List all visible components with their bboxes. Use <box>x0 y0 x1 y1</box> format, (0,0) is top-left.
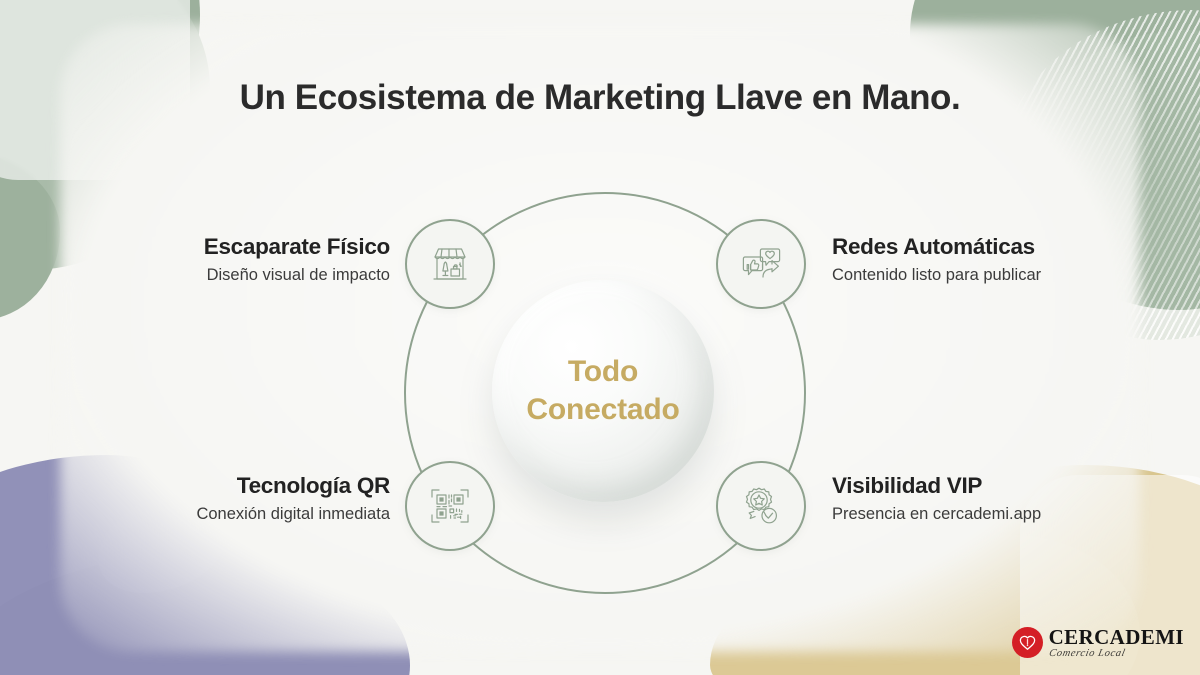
center-label-line1: Todo <box>568 353 638 391</box>
infographic-slide: Un Ecosistema de Marketing Llave en Mano… <box>0 0 1200 675</box>
qr-code-icon <box>426 482 474 530</box>
label-storefront-title: Escaparate Físico <box>50 234 390 261</box>
verified-badge-icon <box>737 482 785 530</box>
node-verified[interactable] <box>716 461 806 551</box>
label-social-subtitle: Contenido listo para publicar <box>832 266 1172 286</box>
logo-tagline: Comercio Local <box>1047 649 1185 660</box>
label-social-title: Redes Automáticas <box>832 234 1172 261</box>
label-qr-subtitle: Conexión digital inmediata <box>50 505 390 525</box>
label-qr: Tecnología QR Conexión digital inmediata <box>50 473 390 524</box>
heart-pin-icon <box>1012 627 1043 658</box>
center-label-line2: Conectado <box>526 391 679 429</box>
label-verified-subtitle: Presencia en cercademi.app <box>832 505 1172 525</box>
brand-logo[interactable]: CERCADEMI Comercio Local <box>1012 627 1184 660</box>
center-label: Todo Conectado <box>492 280 714 502</box>
storefront-icon <box>426 240 474 288</box>
label-qr-title: Tecnología QR <box>50 473 390 500</box>
slide-content: Un Ecosistema de Marketing Llave en Mano… <box>0 0 1200 675</box>
label-social: Redes Automáticas Contenido listo para p… <box>832 234 1172 285</box>
logo-text: CERCADEMI Comercio Local <box>1049 627 1184 660</box>
label-verified-title: Visibilidad VIP <box>832 473 1172 500</box>
label-verified: Visibilidad VIP Presencia en cercademi.a… <box>832 473 1172 524</box>
label-storefront: Escaparate Físico Diseño visual de impac… <box>50 234 390 285</box>
social-engagement-icon <box>737 240 785 288</box>
node-qr[interactable] <box>405 461 495 551</box>
page-title: Un Ecosistema de Marketing Llave en Mano… <box>0 78 1200 118</box>
node-storefront[interactable] <box>405 219 495 309</box>
label-storefront-subtitle: Diseño visual de impacto <box>50 266 390 286</box>
node-social[interactable] <box>716 219 806 309</box>
logo-wordmark: CERCADEMI <box>1049 627 1184 648</box>
